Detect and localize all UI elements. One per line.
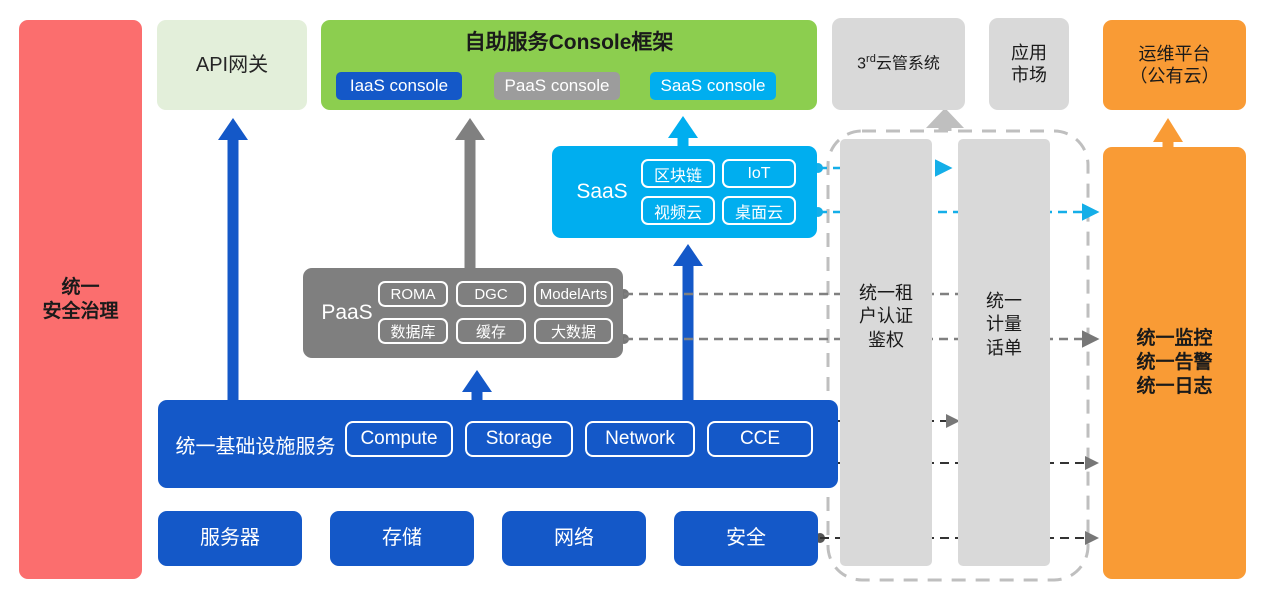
api-gateway-box[interactable]: API网关 [157, 20, 307, 110]
console-title: 自助服务Console框架 [321, 26, 817, 56]
ops-platform-line-1: 运维平台 [1130, 43, 1220, 66]
third-cloud-base: 3 [857, 56, 866, 73]
unified-security-governance-panel[interactable]: 统一 安全治理 [19, 20, 142, 579]
hardware-box-server[interactable]: 服务器 [158, 511, 302, 566]
paas-chip-bigdata[interactable]: 大数据 [534, 318, 613, 344]
arrow-infra-to-paas [462, 370, 492, 400]
security-line-2: 安全治理 [42, 300, 118, 324]
arrow-infra-to-apigw [218, 118, 248, 400]
unified-tenant-auth-column[interactable] [840, 139, 932, 566]
arrow-shared-to-thirdcloud [926, 108, 964, 131]
paas-layer-label: PaaS [312, 297, 382, 329]
auth-line-3: 鉴权 [840, 329, 932, 352]
third-cloud-label: 3rd云管系统 [857, 53, 940, 74]
architecture-diagram: 统一 安全治理 API网关 自助服务Console框架 IaaS console… [0, 0, 1265, 605]
saas-chip-video-cloud[interactable]: 视频云 [641, 196, 715, 225]
iaas-console-chip[interactable]: IaaS console [336, 72, 462, 100]
unified-metering-label: 统一 计量 话单 [958, 290, 1050, 360]
metering-line-2: 计量 [958, 313, 1050, 336]
link-paas-to-auth [619, 289, 1010, 299]
infra-chip-compute[interactable]: Compute [345, 421, 453, 457]
monitoring-line-3: 统一日志 [1136, 375, 1212, 399]
auth-line-2: 户认证 [840, 305, 932, 328]
paas-chip-database[interactable]: 数据库 [378, 318, 448, 344]
saas-chip-blockchain[interactable]: 区块链 [641, 159, 715, 188]
paas-chip-modelarts[interactable]: ModelArts [534, 281, 613, 307]
monitoring-line-1: 统一监控 [1136, 327, 1212, 351]
third-cloud-rest: 云管系统 [876, 56, 940, 73]
saas-console-chip[interactable]: SaaS console [650, 72, 776, 100]
hardware-box-security[interactable]: 安全 [674, 511, 818, 566]
infra-chip-cce[interactable]: CCE [707, 421, 813, 457]
ops-platform-box[interactable]: 运维平台 （公有云） [1103, 20, 1246, 110]
metering-line-3: 话单 [958, 337, 1050, 360]
app-market-line-1: 应用 [1011, 42, 1047, 65]
monitoring-line-2: 统一告警 [1136, 351, 1212, 375]
third-cloud-sup: rd [866, 53, 876, 65]
hardware-box-storage[interactable]: 存储 [330, 511, 474, 566]
app-market-box[interactable]: 应用 市场 [989, 18, 1069, 110]
unified-tenant-auth-label: 统一租 户认证 鉴权 [840, 282, 932, 352]
infrastructure-label: 统一基础设施服务 [168, 428, 343, 460]
arrow-paas-to-console [455, 118, 485, 268]
ops-platform-line-2: （公有云） [1130, 65, 1220, 88]
arrow-monitor-to-opsplatform [1153, 118, 1183, 147]
paas-console-chip[interactable]: PaaS console [494, 72, 620, 100]
unified-monitoring-panel[interactable]: 统一监控 统一告警 统一日志 [1103, 147, 1246, 579]
hardware-box-network[interactable]: 网络 [502, 511, 646, 566]
infra-chip-network[interactable]: Network [585, 421, 695, 457]
saas-layer-label: SaaS [562, 176, 642, 208]
arrow-saas-to-console [668, 116, 698, 146]
paas-chip-dgc[interactable]: DGC [456, 281, 526, 307]
third-party-cloud-management-box[interactable]: 3rd云管系统 [832, 18, 965, 110]
metering-line-1: 统一 [958, 290, 1050, 313]
paas-chip-cache[interactable]: 缓存 [456, 318, 526, 344]
app-market-line-2: 市场 [1011, 64, 1047, 87]
paas-chip-roma[interactable]: ROMA [378, 281, 448, 307]
auth-line-1: 统一租 [840, 282, 932, 305]
saas-chip-iot[interactable]: IoT [722, 159, 796, 188]
security-line-1: 统一 [42, 276, 118, 300]
infra-chip-storage[interactable]: Storage [465, 421, 573, 457]
saas-chip-desktop-cloud[interactable]: 桌面云 [722, 196, 796, 225]
api-gateway-label: API网关 [196, 53, 268, 78]
arrow-infra-to-saas [673, 244, 703, 400]
